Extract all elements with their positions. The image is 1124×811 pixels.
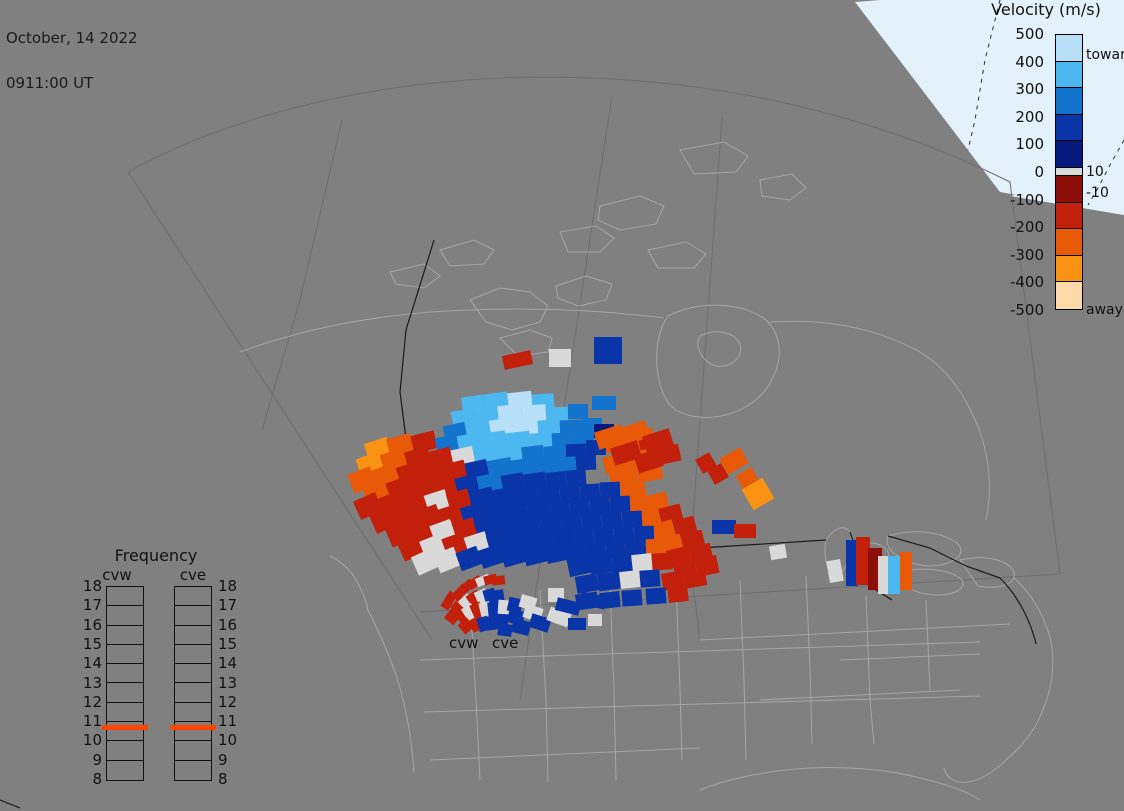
velocity-cell bbox=[622, 511, 643, 528]
frequency-scale-label-10: 10 bbox=[83, 733, 102, 748]
colorbar-negative-ten-label: -10 bbox=[1086, 186, 1109, 200]
velocity-cell bbox=[667, 585, 689, 603]
colorbar-tick-400: 400 bbox=[1015, 55, 1044, 70]
velocity-cell bbox=[888, 556, 900, 594]
frequency-scale-label-17: 17 bbox=[218, 598, 237, 613]
colorbar-band bbox=[1056, 141, 1082, 168]
colorbar-band bbox=[1056, 115, 1082, 142]
frequency-scale-label-15: 15 bbox=[218, 637, 237, 652]
frequency-cell bbox=[107, 626, 143, 645]
timestamp-time: 0911:00 UT bbox=[6, 76, 138, 91]
frequency-scale-label-12: 12 bbox=[83, 695, 102, 710]
colorbar-band bbox=[1056, 168, 1082, 176]
velocity-cell bbox=[576, 454, 597, 471]
colorbar-band bbox=[1056, 203, 1082, 230]
frequency-marker-cvw bbox=[102, 725, 148, 730]
velocity-cell bbox=[568, 404, 588, 419]
velocity-cell bbox=[826, 559, 844, 583]
radar-velocity-map: October, 14 2022 0911:00 UT Velocity (m/… bbox=[0, 0, 1124, 811]
frequency-title: Frequency bbox=[80, 548, 232, 564]
velocity-cell bbox=[502, 350, 533, 370]
frequency-scale-label-12: 12 bbox=[218, 695, 237, 710]
colorbar-band bbox=[1056, 282, 1082, 309]
colorbar-tick-neg400: -400 bbox=[1010, 275, 1044, 290]
site-label-cve: cve bbox=[492, 636, 518, 651]
frequency-cell bbox=[107, 606, 143, 625]
colorbar-band bbox=[1056, 62, 1082, 89]
frequency-cell bbox=[175, 587, 211, 606]
frequency-scale-label-8: 8 bbox=[218, 772, 228, 787]
frequency-scale-label-15: 15 bbox=[83, 637, 102, 652]
frequency-cell bbox=[107, 587, 143, 606]
frequency-scale-label-16: 16 bbox=[218, 618, 237, 633]
velocity-colorbar: Velocity (m/s) 5004003002001000-100-200-… bbox=[960, 0, 1124, 340]
frequency-scale-label-18: 18 bbox=[83, 579, 102, 594]
colorbar-tick-neg100: -100 bbox=[1010, 193, 1044, 208]
colorbar-band bbox=[1056, 256, 1082, 283]
site-label-cvw: cvw bbox=[449, 636, 478, 651]
frequency-cell bbox=[107, 664, 143, 683]
frequency-cell bbox=[175, 645, 211, 664]
colorbar-band bbox=[1056, 176, 1082, 203]
frequency-cell bbox=[175, 703, 211, 722]
frequency-panel: Frequency cvw cve 18171615141312111098 1… bbox=[80, 546, 232, 786]
velocity-cell bbox=[734, 524, 756, 538]
velocity-cell bbox=[621, 589, 642, 606]
frequency-scale-label-14: 14 bbox=[83, 656, 102, 671]
velocity-cell bbox=[645, 587, 666, 604]
frequency-bar-cve bbox=[174, 586, 212, 781]
frequency-marker-cve bbox=[170, 725, 216, 730]
frequency-cell bbox=[175, 741, 211, 760]
colorbar-positive-ten-label: 10 bbox=[1086, 165, 1104, 179]
frequency-scale-label-11: 11 bbox=[83, 714, 102, 729]
timestamp: October, 14 2022 0911:00 UT bbox=[6, 1, 138, 121]
frequency-scale-label-10: 10 bbox=[218, 733, 237, 748]
frequency-scale-label-9: 9 bbox=[218, 753, 228, 768]
colorbar-tick-labels: 5004003002001000-100-200-300-400-500 bbox=[960, 0, 1050, 340]
colorbar-tick-100: 100 bbox=[1015, 137, 1044, 152]
frequency-scale-label-18: 18 bbox=[218, 579, 237, 594]
frequency-cell bbox=[107, 645, 143, 664]
frequency-cell bbox=[175, 626, 211, 645]
velocity-cell bbox=[568, 618, 586, 630]
velocity-cell bbox=[900, 552, 912, 590]
colorbar-band bbox=[1056, 229, 1082, 256]
colorbar-tick-neg200: -200 bbox=[1010, 220, 1044, 235]
colorbar-tick-300: 300 bbox=[1015, 82, 1044, 97]
colorbar-band bbox=[1056, 88, 1082, 115]
frequency-cell bbox=[107, 703, 143, 722]
velocity-cell bbox=[619, 570, 641, 589]
frequency-scale-label-11: 11 bbox=[218, 714, 237, 729]
frequency-cell bbox=[107, 741, 143, 760]
frequency-cell bbox=[175, 761, 211, 780]
colorbar-tick-neg300: -300 bbox=[1010, 248, 1044, 263]
colorbar-tick-500: 500 bbox=[1015, 27, 1044, 42]
colorbar-tick-0: 0 bbox=[1034, 165, 1044, 180]
colorbar-tick-neg500: -500 bbox=[1010, 303, 1044, 318]
frequency-scale-label-8: 8 bbox=[92, 772, 102, 787]
frequency-cell bbox=[175, 664, 211, 683]
velocity-cell bbox=[712, 520, 736, 534]
velocity-cell bbox=[549, 349, 571, 367]
frequency-cell bbox=[175, 683, 211, 702]
frequency-scale-label-9: 9 bbox=[92, 753, 102, 768]
frequency-scale-labels-cve: 18171615141312111098 bbox=[216, 586, 240, 781]
colorbar-toward-label: toward bbox=[1086, 48, 1124, 62]
velocity-cell bbox=[610, 496, 631, 513]
timestamp-date: October, 14 2022 bbox=[6, 31, 138, 46]
frequency-scale-labels-cvw: 18171615141312111098 bbox=[80, 586, 104, 781]
velocity-cell bbox=[597, 572, 621, 592]
colorbar-away-label: away bbox=[1086, 303, 1123, 317]
colorbar-band bbox=[1056, 35, 1082, 62]
velocity-cell bbox=[592, 396, 616, 410]
velocity-cell bbox=[651, 552, 672, 570]
frequency-cell bbox=[175, 606, 211, 625]
frequency-column-header-cve: cve bbox=[170, 568, 216, 583]
frequency-cell bbox=[107, 761, 143, 780]
velocity-cell bbox=[588, 614, 602, 626]
frequency-bar-cvw bbox=[106, 586, 144, 781]
frequency-scale-label-13: 13 bbox=[83, 676, 102, 691]
velocity-cell bbox=[639, 569, 660, 587]
frequency-scale-label-14: 14 bbox=[218, 656, 237, 671]
frequency-scale-label-13: 13 bbox=[218, 676, 237, 691]
frequency-cell bbox=[107, 683, 143, 702]
colorbar-gradient bbox=[1055, 34, 1083, 310]
frequency-scale-label-17: 17 bbox=[83, 598, 102, 613]
velocity-cell bbox=[769, 544, 787, 561]
frequency-scale-label-16: 16 bbox=[83, 618, 102, 633]
colorbar-tick-200: 200 bbox=[1015, 110, 1044, 125]
velocity-cell bbox=[492, 575, 506, 585]
velocity-cell bbox=[594, 337, 622, 364]
